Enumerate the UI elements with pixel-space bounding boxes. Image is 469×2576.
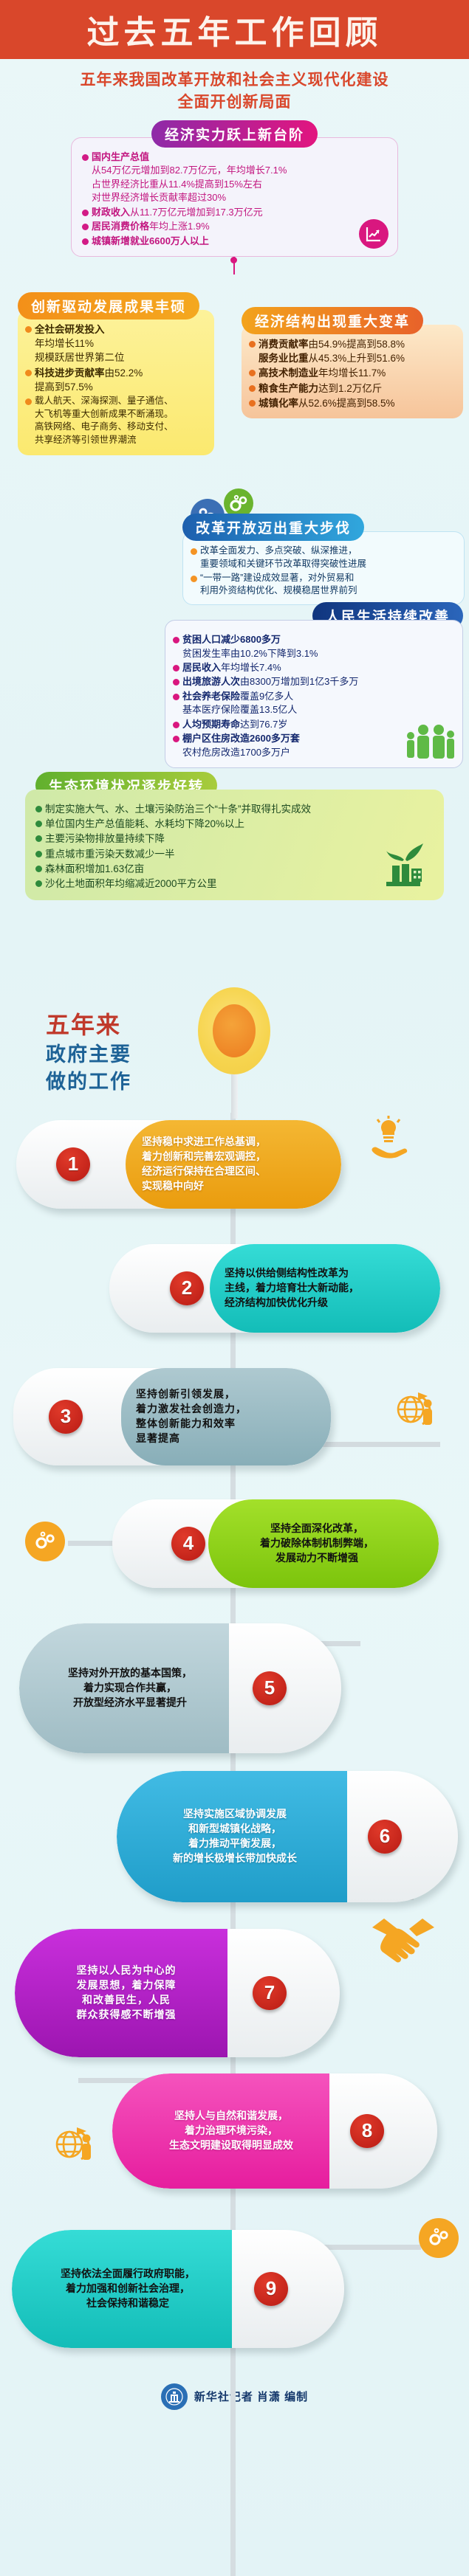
pill-9[interactable]: 9 坚持依法全面履行政府职能， 着力加强和创新社会治理， 社会保持和谐稳定: [12, 2230, 344, 2348]
list-item: 改革全面发力、多点突破、纵深推进， 重要领域和关键环节改革取得突破性进展: [191, 545, 456, 571]
item-lead: 科技进步贡献率: [35, 367, 105, 379]
list-item: 居民收入年均增长7.4%: [173, 661, 455, 674]
part2-title-line2: 政府主要: [46, 1041, 131, 1068]
pill-number-6: 6: [368, 1820, 402, 1854]
work-item-2: 2 坚持以供给侧结构性改革为 主线，着力培育壮大新动能， 经济结构加快优化升级: [0, 1244, 469, 1355]
globe-person-icon: [393, 1386, 439, 1435]
bullet-dot: [35, 835, 42, 842]
work-item-6: 6 坚持实施区域协调发展 和新型城镇化战略， 着力推动平衡发展， 新的增长极增长…: [0, 1771, 469, 1916]
item-line: 覆盖9亿多人: [240, 691, 293, 702]
bullet-dot: [173, 679, 179, 686]
list-item: 城镇新增就业6600万人以上: [82, 235, 387, 248]
bullet-dot: [35, 851, 42, 857]
section-body-innovation-driven: 全社会研发投入 年均增长11% 规模跃居世界第二位 科技进步贡献率由52.2% …: [18, 310, 214, 455]
section-peoples-livelihood: 人民生活持续改善 贫困人口减少6800多万 贫困发生率由10.2%下降到3.1%…: [0, 592, 469, 763]
list-item: 高技术制造业年均增长11.7%: [249, 366, 456, 380]
item-line: 制定实施大气、水、土壤污染防治三个“十条”并取得扎实成效: [45, 802, 434, 816]
item-lead: 消费贡献率: [259, 339, 309, 350]
sections-row-innovation-structure: 创新驱动发展成果丰硕 全社会研发投入 年均增长11% 规模跃居世界第二位 科技进…: [0, 276, 469, 490]
pill-number-3: 3: [49, 1400, 83, 1434]
section-ecological-environment: 生态环境状况逐步好转 制定实施大气、水、土壤污染防治三个“十条”并取得扎实成效 …: [0, 772, 469, 908]
eco-factory-leaf-icon: [376, 840, 431, 893]
item-line: 提高到57.5%: [35, 381, 93, 393]
item-lead: 全社会研发投入: [35, 324, 105, 335]
section-body-ecological-environment: 制定实施大气、水、土壤污染防治三个“十条”并取得扎实成效 单位国内生产总值能耗、…: [25, 790, 444, 900]
page-subtitle-line1: 五年来我国改革开放和社会主义现代化建设: [15, 69, 454, 91]
item-line: 共享经济等引领世界潮流: [35, 435, 137, 445]
list-item: 城镇化率从52.6%提高到58.5%: [249, 396, 456, 410]
pill-number-1: 1: [56, 1147, 90, 1181]
section-economic-structure: 经济结构出现重大变革 消费贡献率由54.9%提高到58.8% 服务业比重从45.…: [242, 307, 463, 418]
list-item: 消费贡献率由54.9%提高到58.8% 服务业比重从45.3%上升到51.6%: [249, 337, 456, 365]
part2-government-work: 五年来 政府主要 做的工作: [0, 943, 469, 2448]
pill-text-2: 坚持以供给侧结构性改革为 主线，着力培育壮大新动能， 经济结构加快优化升级: [225, 1266, 359, 1311]
item-line: 占世界经济比重从11.4%提高到15%左右: [92, 179, 262, 190]
page-subtitle-line2: 全面开创新局面: [15, 91, 454, 114]
item-line: 由52.2%: [105, 367, 143, 379]
item-line: 重要领域和关键环节改革取得突破性进展: [200, 559, 366, 569]
item-line: 从45.3%上升到51.6%: [309, 353, 405, 364]
item-lead: 棚户区住房改造2600多万套: [182, 733, 300, 744]
item-lead: 财政收入: [92, 207, 130, 218]
bullet-dot: [249, 400, 256, 407]
bullet-dot: [25, 326, 32, 333]
bullet-dot: [249, 385, 256, 392]
section-economy-strength: 经济实力跃上新台阶 国内生产总值 从54万亿元增加到82.7万亿元，年均增长7.…: [0, 120, 469, 257]
work-item-3: 3 坚持创新引领发展， 着力激发社会创造力， 整体创新能力和效率 显著提高: [0, 1368, 469, 1486]
list-item: 居民消费价格年均上涨1.9%: [82, 220, 387, 233]
list-item: 主要污染物排放量持续下降: [35, 832, 434, 846]
trending-up-chart-icon: [359, 219, 388, 249]
bullet-dot: [25, 398, 32, 405]
item-lead: 人均预期寿命: [182, 719, 240, 730]
list-item: 社会养老保险覆盖9亿多人 基本医疗保险覆盖13.5亿人: [173, 690, 455, 717]
work-item-5: 5 坚持对外开放的基本国策， 着力实现合作共赢， 开放型经济水平显著提升: [0, 1623, 469, 1758]
list-item: 森林面积增加1.63亿亩: [35, 862, 434, 876]
list-item: 国内生产总值 从54万亿元增加到82.7万亿元，年均增长7.1% 占世界经济比重…: [82, 151, 387, 205]
pill-number-8: 8: [350, 2114, 384, 2148]
section-heading-economic-structure: 经济结构出现重大变革: [242, 307, 423, 334]
gears-orange-icon: [419, 2218, 459, 2258]
item-line: 达到76.7岁: [240, 719, 287, 730]
page-title-bar: 过去五年工作回顾: [0, 0, 469, 59]
list-item: 载人航天、深海探测、量子通信、 大飞机等重大创新成果不断涌现。 高铁网络、电子商…: [25, 395, 207, 447]
item-line: 年均增长11.7%: [318, 367, 386, 379]
globe-person-icon: [52, 2121, 97, 2170]
pill-text-6: 坚持实施区域协调发展 和新型城镇化战略， 着力推动平衡发展， 新的增长极增长带加…: [127, 1807, 343, 1866]
part2-title-line3: 做的工作: [46, 1068, 131, 1095]
item-line: 年均增长7.4%: [221, 662, 281, 673]
item-line: 年均增长11%: [35, 338, 94, 349]
pill-number-5: 5: [253, 1671, 287, 1705]
pill-text-8: 坚持人与自然和谐发展， 着力治理环境污染， 生态文明建设取得明显成效: [133, 2109, 329, 2153]
credit-text: 新华社记者 肖潇 编制: [194, 2389, 308, 2404]
section-heading-economy-strength: 经济实力跃上新台阶: [151, 120, 318, 148]
item-line: 农村危房改造1700多万户: [182, 747, 290, 758]
list-item: 单位国内生产总值能耗、水耗均下降20%以上: [35, 817, 434, 831]
bullet-dot: [82, 238, 89, 245]
section-reform-opening: 改革开放迈出重大步伐 改革全面发力、多点突破、纵深推进， 重要领域和关键环节改革…: [0, 493, 469, 587]
pill-4[interactable]: 4 坚持全面深化改革， 着力破除体制机制弊端， 发展动力不断增强: [112, 1499, 439, 1588]
item-line: 从11.7万亿元增加到17.3万亿元: [130, 207, 263, 218]
gears-orange-icon: [25, 1522, 65, 1561]
pill-7[interactable]: 7 坚持以人民为中心的 发展思想，着力保障 和改善民生，人民 群众获得感不断增强: [15, 1929, 340, 2057]
item-line: 从54万亿元增加到82.7万亿元，年均增长7.1%: [92, 165, 287, 176]
list-item: 制定实施大气、水、土壤污染防治三个“十条”并取得扎实成效: [35, 802, 434, 816]
pill-5[interactable]: 5 坚持对外开放的基本国策， 着力实现合作共赢， 开放型经济水平显著提升: [19, 1623, 341, 1753]
bullet-dot: [35, 821, 42, 827]
page-subtitle: 五年来我国改革开放和社会主义现代化建设 全面开创新局面: [0, 59, 469, 119]
bullet-dot: [82, 224, 89, 230]
item-line: 高铁网络、电子商务、移动支付、: [35, 421, 174, 432]
bullet-dot: [82, 210, 89, 216]
item-lead: 社会养老保险: [182, 691, 240, 702]
section-heading-innovation-driven: 创新驱动发展成果丰硕: [18, 292, 199, 320]
item-lead: 城镇新增就业6600万人以上: [92, 235, 209, 246]
pill-6[interactable]: 6 坚持实施区域协调发展 和新型城镇化战略， 着力推动平衡发展， 新的增长极增长…: [117, 1771, 458, 1902]
list-item: 全社会研发投入 年均增长11% 规模跃居世界第二位: [25, 322, 207, 365]
bullet-dot: [35, 866, 42, 872]
item-line: 规模跃居世界第二位: [35, 352, 125, 363]
item-line: 基本医疗保险覆盖13.5亿人: [182, 704, 297, 715]
pill-text-7: 坚持以人民为中心的 发展思想，着力保障 和改善民生，人民 群众获得感不断增强: [34, 1964, 219, 2023]
item-line: 达到1.2万亿斤: [318, 383, 382, 394]
connector-dot: [230, 257, 237, 263]
bullet-dot: [35, 806, 42, 812]
list-item: 沙化土地面积年均缩减近2000平方公里: [35, 877, 434, 891]
item-line: 年均上涨1.9%: [149, 221, 210, 232]
item-lead: 居民收入: [182, 662, 221, 673]
pill-1[interactable]: 1 坚持稳中求进工作总基调， 着力创新和完善宏观调控， 经济运行保持在合理区间、…: [16, 1120, 341, 1209]
work-item-1: 1 坚持稳中求进工作总基调， 着力创新和完善宏观调控， 经济运行保持在合理区间、…: [0, 1120, 469, 1231]
item-lead: 国内生产总值: [92, 151, 149, 162]
infographic-page: 过去五年工作回顾 五年来我国改革开放和社会主义现代化建设 全面开创新局面 经济实…: [0, 0, 469, 2576]
pill-text-3: 坚持创新引领发展， 着力激发社会创造力， 整体创新能力和效率 显著提高: [136, 1387, 247, 1446]
pill-number-2: 2: [170, 1271, 204, 1305]
list-item: 粮食生产能力达到1.2万亿斤: [249, 381, 456, 396]
lightbulb-in-hand-icon: [368, 1116, 409, 1164]
item-line: 由8300万增加到1亿3千多万: [240, 676, 358, 687]
bullet-dot: [35, 880, 42, 887]
section-heading-reform-opening: 改革开放迈出重大步伐: [182, 514, 364, 541]
work-item-4: 4 坚持全面深化改革， 着力破除体制机制弊端， 发展动力不断增强: [0, 1499, 469, 1610]
work-item-9: 9 坚持依法全面履行政府职能， 着力加强和创新社会治理， 社会保持和谐稳定: [0, 2230, 469, 2360]
page-title: 过去五年工作回顾: [87, 6, 383, 53]
item-lead: 高技术制造业: [259, 367, 318, 379]
item-lead: 居民消费价格: [92, 221, 149, 232]
item-line: 由54.9%提高到58.8%: [309, 339, 405, 350]
bullet-dot: [82, 154, 89, 161]
item-line: 贫困发生率由10.2%下降到3.1%: [182, 648, 318, 659]
bullet-dot: [173, 722, 179, 728]
pill-number-4: 4: [171, 1527, 205, 1561]
handshake-icon: [369, 1911, 437, 1968]
item-line: 改革全面发力、多点突破、纵深推进，: [200, 545, 357, 556]
item-line: 载人航天、深海探测、量子通信、: [35, 396, 174, 406]
pill-3[interactable]: 3 坚持创新引领发展， 着力激发社会创造力， 整体创新能力和效率 显著提高: [13, 1368, 331, 1465]
item-lead: 贫困人口减少6800多万: [182, 634, 281, 645]
section-body-peoples-livelihood: 贫困人口减少6800多万 贫困发生率由10.2%下降到3.1% 居民收入年均增长…: [165, 620, 463, 768]
pill-text-9: 坚持依法全面履行政府职能， 着力加强和创新社会治理， 社会保持和谐稳定: [25, 2267, 230, 2311]
family-group-icon: [402, 724, 455, 763]
bullet-dot: [25, 370, 32, 376]
pill-number-9: 9: [254, 2272, 288, 2306]
pill-text-5: 坚持对外开放的基本国策， 着力实现合作共赢， 开放型经济水平显著提升: [35, 1666, 225, 1710]
item-lead: 城镇化率: [259, 398, 298, 409]
item-line: “一带一路”建设成效显著，对外贸易和: [200, 573, 354, 583]
item-line: 大飞机等重大创新成果不断涌现。: [35, 409, 174, 419]
list-item: 财政收入从11.7万亿元增加到17.3万亿元: [82, 206, 387, 219]
pill-text-1: 坚持稳中求进工作总基调， 着力创新和完善宏观调控， 经济运行保持在合理区间、 实…: [142, 1135, 266, 1194]
pill-2[interactable]: 2 坚持以供给侧结构性改革为 主线，着力培育壮大新动能， 经济结构加快优化升级: [109, 1244, 440, 1333]
item-lead: 服务业比重: [259, 353, 309, 364]
part2-title-line1: 五年来: [46, 1009, 131, 1041]
bullet-dot: [173, 637, 179, 643]
bullet-dot: [191, 548, 197, 555]
item-line: 从52.6%提高到58.5%: [298, 398, 395, 409]
section-innovation-driven: 创新驱动发展成果丰硕 全社会研发投入 年均增长11% 规模跃居世界第二位 科技进…: [18, 292, 214, 455]
bullet-dot: [173, 665, 179, 671]
bullet-dot: [191, 576, 197, 582]
list-item: 重点城市重污染天数减少一半: [35, 847, 434, 861]
item-line: 对世界经济增长贡献率超过30%: [92, 192, 226, 203]
pill-number-7: 7: [253, 1976, 287, 2010]
bullet-dot: [249, 341, 256, 348]
item-line: 单位国内生产总值能耗、水耗均下降20%以上: [45, 817, 434, 831]
xinhua-logo-icon: [161, 2383, 188, 2410]
pill-text-4: 坚持全面深化改革， 着力破除体制机制弊端， 发展动力不断增强: [225, 1522, 409, 1566]
section-body-economy-strength: 国内生产总值 从54万亿元增加到82.7万亿元，年均增长7.1% 占世界经济比重…: [71, 137, 398, 257]
pill-8[interactable]: 8 坚持人与自然和谐发展， 着力治理环境污染， 生态文明建设取得明显成效: [112, 2073, 437, 2189]
bullet-dot: [173, 736, 179, 742]
item-lead: 出境旅游人次: [182, 676, 240, 687]
list-item: 科技进步贡献率由52.2% 提高到57.5%: [25, 366, 207, 394]
bullet-dot: [173, 694, 179, 700]
item-lead: 粮食生产能力: [259, 383, 318, 394]
part2-title: 五年来 政府主要 做的工作: [46, 1009, 131, 1095]
section-body-economic-structure: 消费贡献率由54.9%提高到58.8% 服务业比重从45.3%上升到51.6% …: [242, 325, 463, 418]
bullet-dot: [249, 370, 256, 376]
lollipop-sun-icon: [198, 987, 270, 1119]
work-item-7: 7 坚持以人民为中心的 发展思想，着力保障 和改善民生，人民 群众获得感不断增强: [0, 1929, 469, 2060]
list-item: 出境旅游人次由8300万增加到1亿3千多万: [173, 675, 455, 688]
list-item: 贫困人口减少6800多万 贫困发生率由10.2%下降到3.1%: [173, 633, 455, 660]
work-item-8: 8 坚持人与自然和谐发展， 着力治理环境污染， 生态文明建设取得明显成效: [0, 2073, 469, 2205]
